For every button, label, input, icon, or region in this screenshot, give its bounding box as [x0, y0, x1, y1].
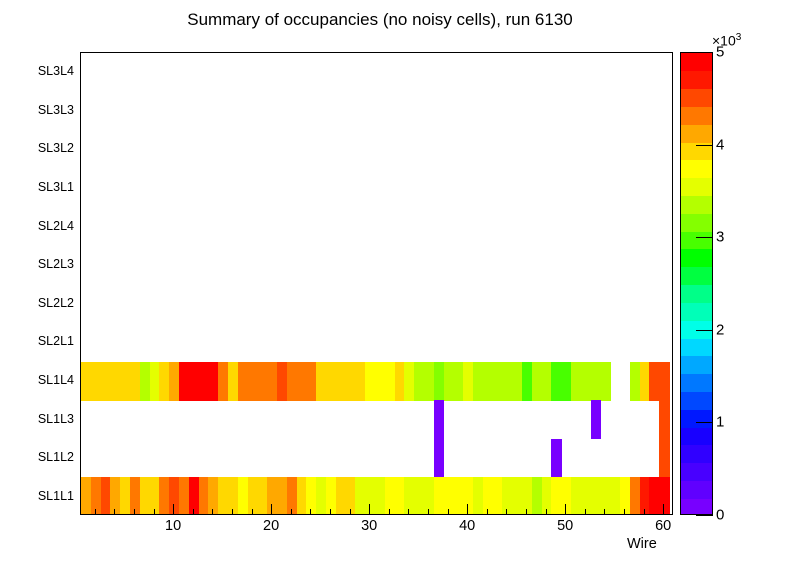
- page-title: Summary of occupancies (no noisy cells),…: [0, 10, 760, 30]
- colorbar-tick-label: 0: [716, 507, 724, 524]
- colorbar-labels: 012345: [716, 52, 756, 515]
- x-axis-label: 60: [655, 518, 671, 534]
- x-axis-label: 40: [459, 518, 475, 534]
- x-axis-tick-minor: [448, 509, 449, 515]
- colorbar-tick-label: 2: [716, 321, 724, 338]
- colorbar-ticks: [680, 52, 720, 515]
- x-axis-tick-minor: [487, 509, 488, 515]
- x-axis-tick-minor: [95, 509, 96, 515]
- x-axis-label: 30: [361, 518, 377, 534]
- x-axis-tick-minor: [193, 509, 194, 515]
- x-axis-tick-minor: [546, 509, 547, 515]
- x-axis-tick-minor: [389, 509, 390, 515]
- colorbar-tick: [696, 330, 713, 331]
- colorbar-tick: [696, 515, 713, 516]
- colorbar-exponent-power: 3: [736, 32, 742, 43]
- x-axis-tick-major: [663, 504, 664, 515]
- x-axis-label: 10: [165, 518, 181, 534]
- x-axis-tick-minor: [644, 509, 645, 515]
- colorbar-tick-label: 4: [716, 136, 724, 153]
- x-axis-tick-minor: [134, 509, 135, 515]
- x-axis-tick-minor: [154, 509, 155, 515]
- x-axis-labels: 102030405060: [80, 518, 673, 538]
- colorbar-tick: [696, 237, 713, 238]
- x-axis-tick-minor: [585, 509, 586, 515]
- x-axis-tick-major: [467, 504, 468, 515]
- x-axis-tick-minor: [350, 509, 351, 515]
- x-axis-label: 50: [557, 518, 573, 534]
- x-axis-tick-minor: [310, 509, 311, 515]
- x-axis-ticks: [80, 52, 673, 515]
- colorbar-tick: [696, 422, 713, 423]
- x-axis-tick-minor: [624, 509, 625, 515]
- x-axis-tick-minor: [428, 509, 429, 515]
- colorbar-tick: [696, 145, 713, 146]
- colorbar-tick: [696, 52, 713, 53]
- x-axis-tick-major: [369, 504, 370, 515]
- x-axis-tick-minor: [604, 509, 605, 515]
- x-axis-tick-minor: [330, 509, 331, 515]
- x-axis-tick-major: [173, 504, 174, 515]
- colorbar-tick-label: 1: [716, 414, 724, 431]
- x-axis-tick-minor: [291, 509, 292, 515]
- x-axis-tick-minor: [408, 509, 409, 515]
- x-axis-tick-minor: [506, 509, 507, 515]
- x-axis-label: 20: [263, 518, 279, 534]
- x-axis-tick-minor: [526, 509, 527, 515]
- x-axis-tick-minor: [212, 509, 213, 515]
- colorbar-tick-label: 3: [716, 229, 724, 246]
- x-axis-tick-minor: [252, 509, 253, 515]
- x-axis-title: Wire: [627, 536, 657, 552]
- colorbar-tick-label: 5: [716, 44, 724, 61]
- root-canvas: Summary of occupancies (no noisy cells),…: [0, 0, 796, 572]
- x-axis-tick-minor: [232, 509, 233, 515]
- x-axis-tick-minor: [114, 509, 115, 515]
- x-axis-tick-major: [565, 504, 566, 515]
- x-axis-tick-major: [271, 504, 272, 515]
